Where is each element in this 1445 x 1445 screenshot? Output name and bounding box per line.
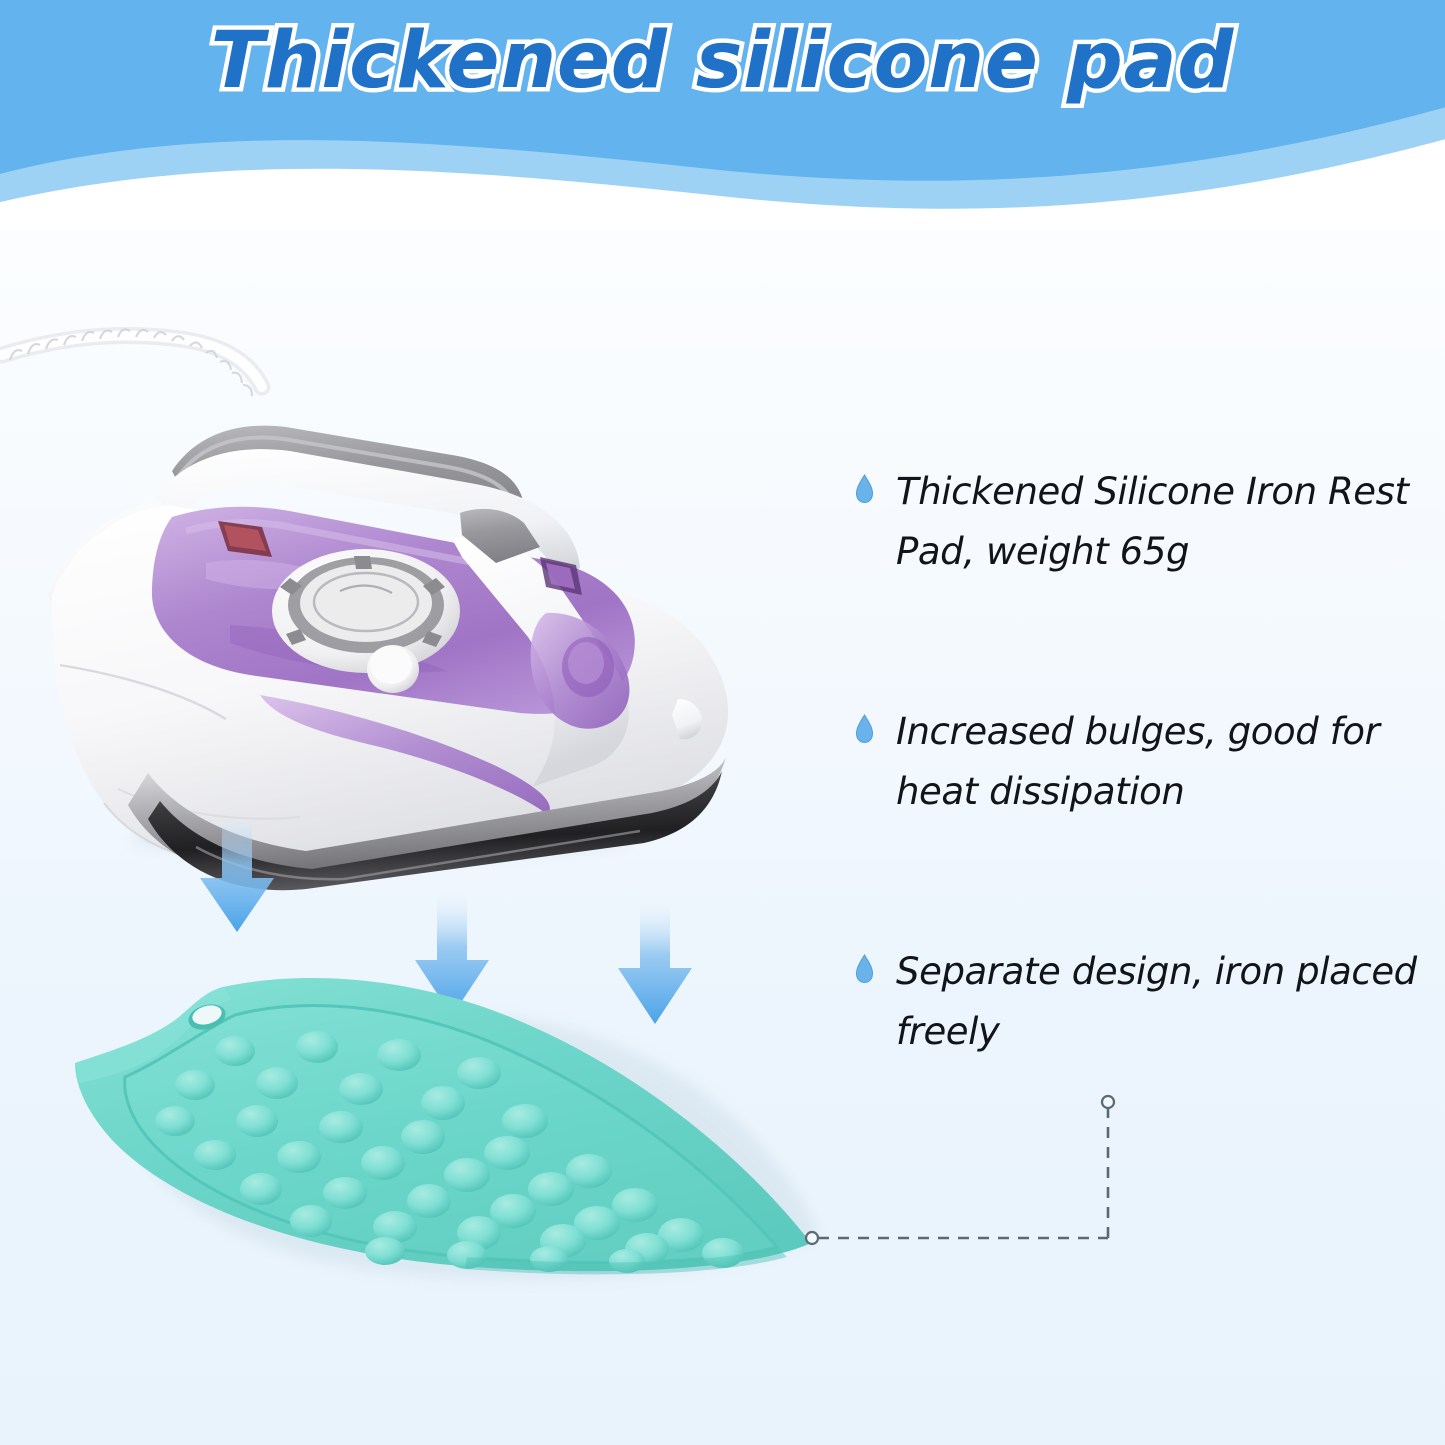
- feature-text-1: Thickened Silicone Iron Rest Pad, weight…: [896, 462, 1430, 582]
- spray-button[interactable]: [367, 645, 419, 693]
- feature-item-3: Separate design, iron placed freely: [855, 942, 1430, 1062]
- steam-control-dial[interactable]: [272, 549, 460, 673]
- infographic-page: Thickened silicone pad Thickened silicon…: [0, 0, 1445, 1445]
- silicone-pad-product-image: [55, 955, 865, 1300]
- droplet-icon: [855, 714, 874, 744]
- arrow-down-icon-1: [200, 820, 274, 932]
- page-title: Thickened silicone pad: [0, 16, 1445, 106]
- feature-item-2: Increased bulges, good for heat dissipat…: [855, 702, 1430, 822]
- feature-text-3: Separate design, iron placed freely: [896, 942, 1430, 1062]
- callout-endpoint-start: [806, 1232, 818, 1244]
- feature-item-1: Thickened Silicone Iron Rest Pad, weight…: [855, 462, 1430, 582]
- droplet-icon: [855, 954, 874, 984]
- dimension-callout: [790, 1080, 1170, 1280]
- droplet-icon: [855, 474, 874, 504]
- power-cord-icon: [2, 329, 262, 396]
- callout-endpoint-end: [1102, 1096, 1114, 1108]
- feature-text-2: Increased bulges, good for heat dissipat…: [896, 702, 1430, 822]
- header-banner: Thickened silicone pad Thickened silicon…: [0, 0, 1445, 230]
- iron-product-image: [0, 295, 790, 895]
- feature-list: Thickened Silicone Iron Rest Pad, weight…: [855, 462, 1430, 1062]
